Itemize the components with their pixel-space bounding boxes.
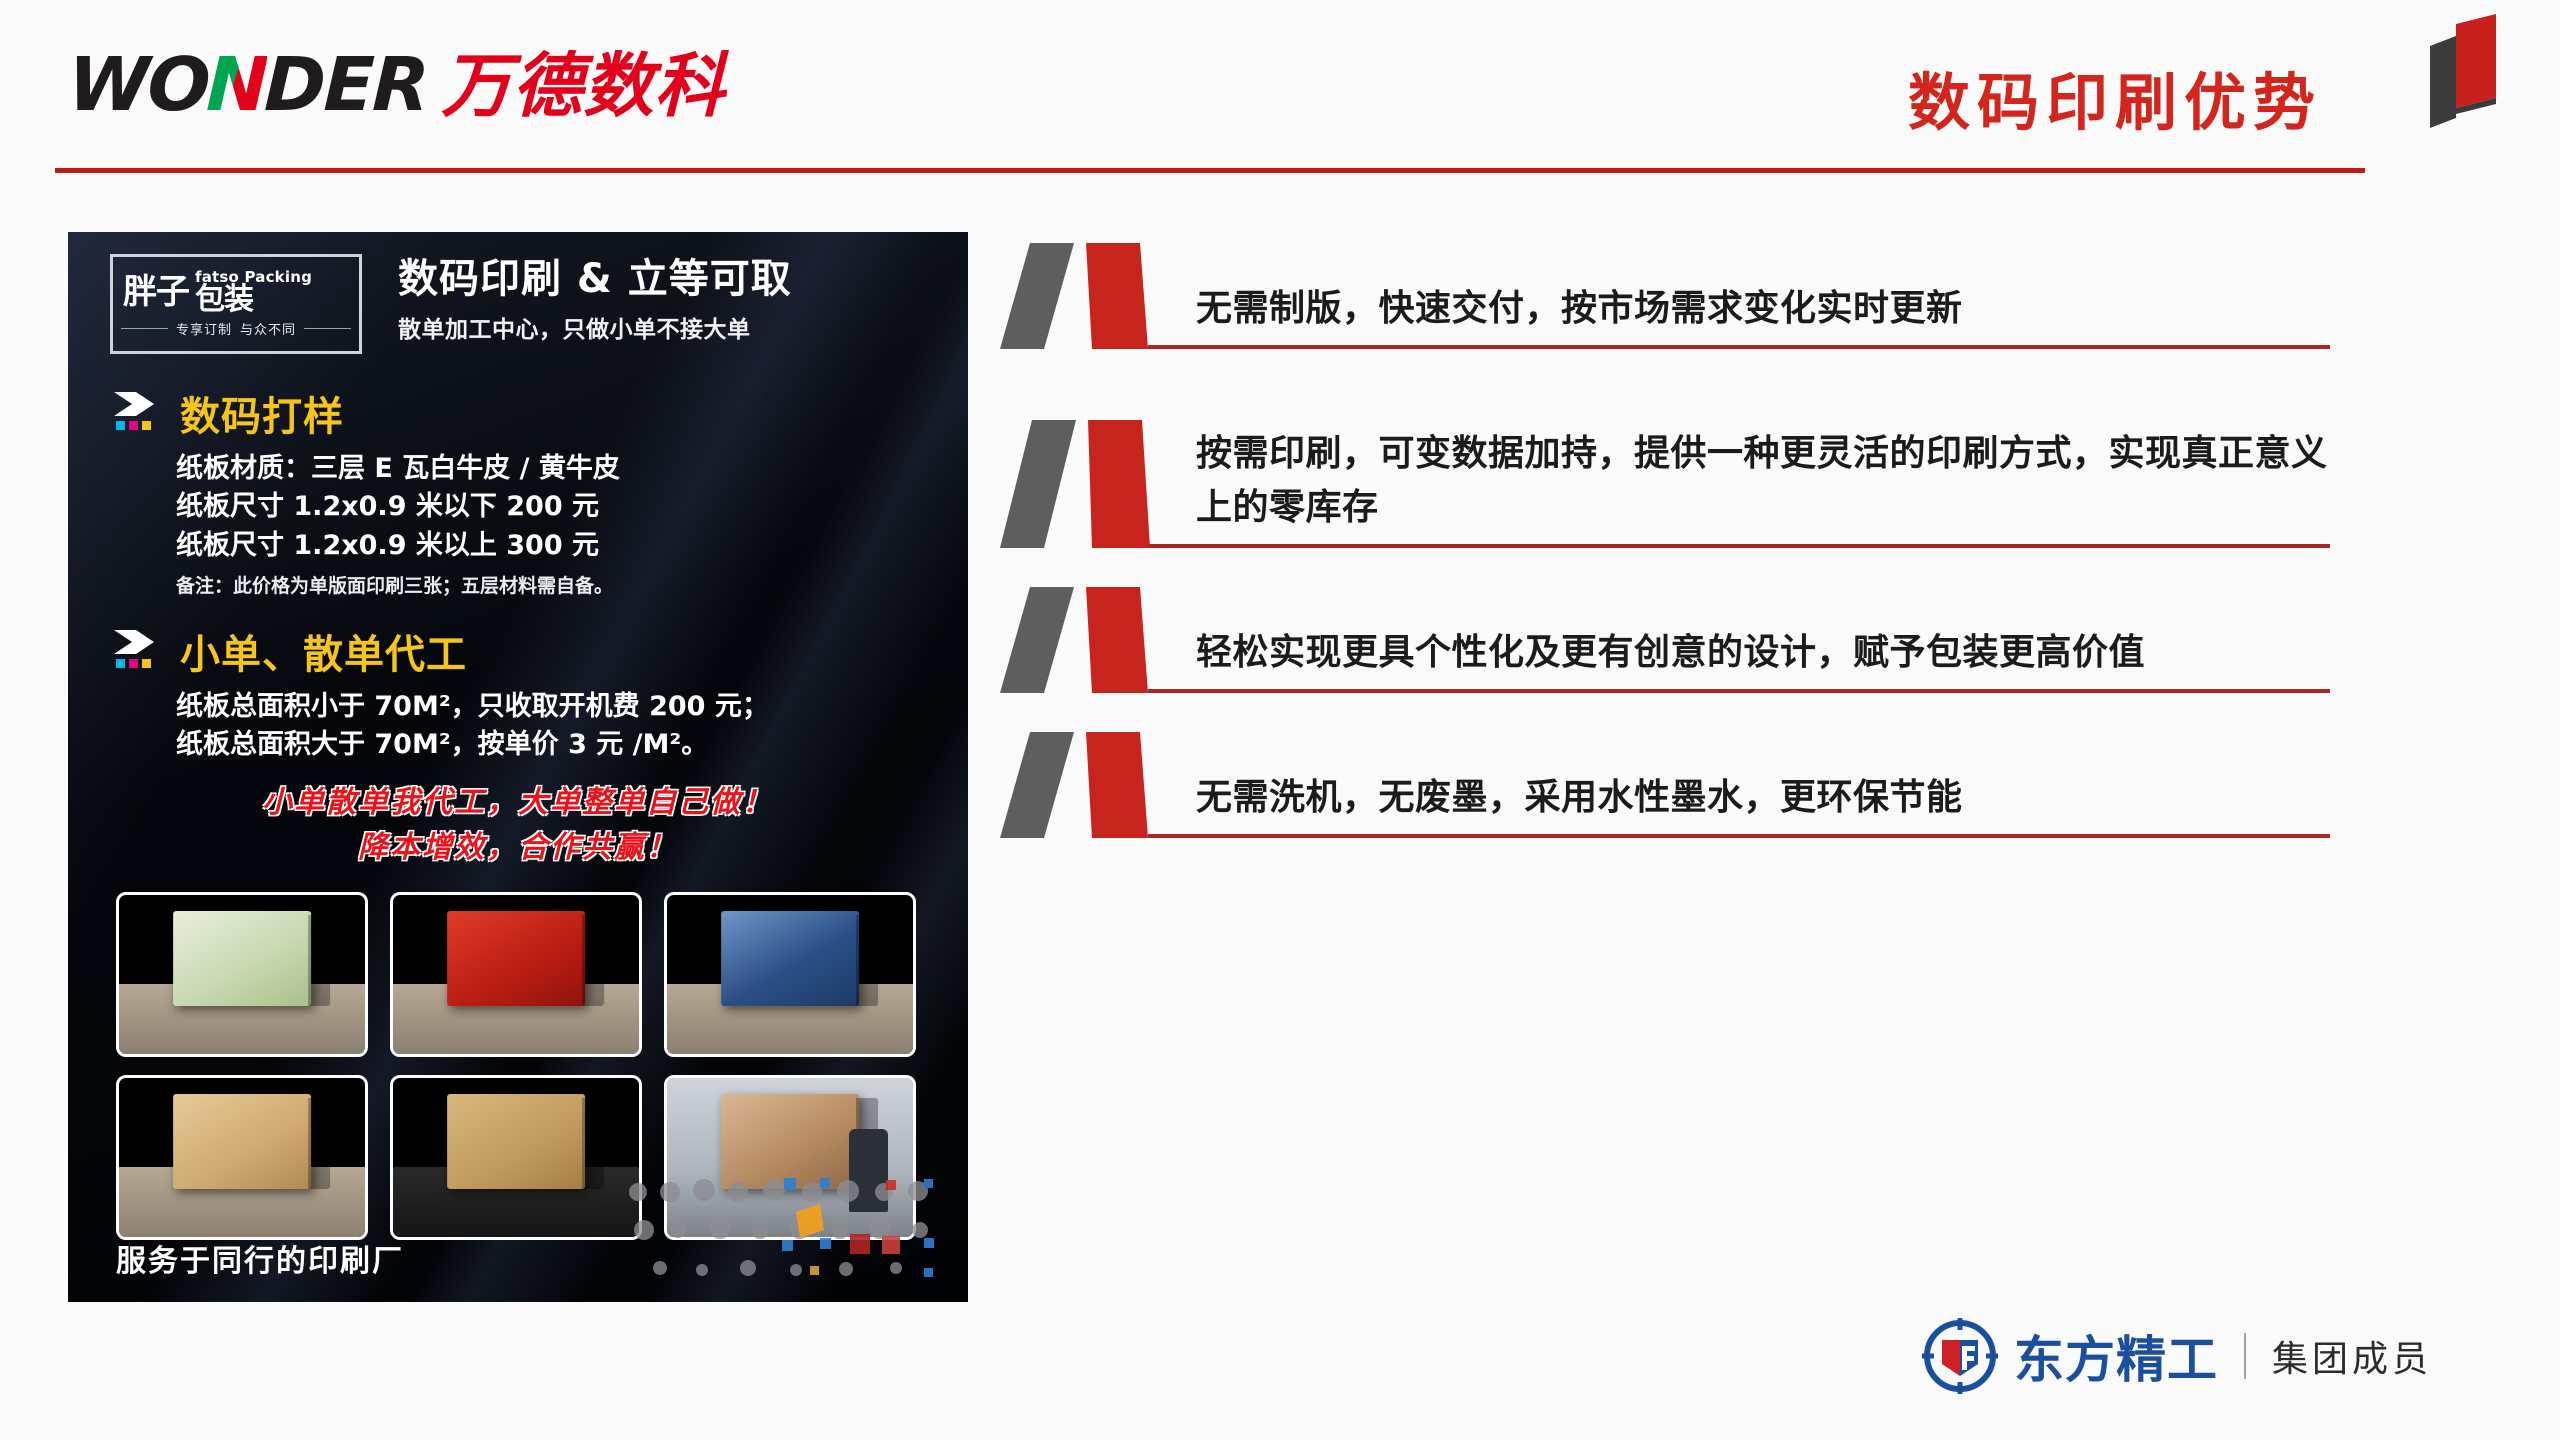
wonder-text-pre: WO	[67, 48, 210, 122]
dongfang-shield-icon	[1922, 1318, 1998, 1394]
wonder-letter-n: N	[205, 48, 268, 122]
promo-poster-image: 胖子 fatso Packing 包装 专享订制 与众不同 数码印刷 & 立等可…	[68, 232, 968, 1302]
fatso-tagline-left: 专享订制	[176, 319, 232, 338]
fatso-logo-cn-left: 胖子	[123, 276, 189, 308]
fatso-tagline-right: 与众不同	[240, 319, 296, 338]
wonder-wordmark: WONDER	[67, 48, 429, 122]
double-slash-marker-icon	[1000, 587, 1172, 693]
product-photo-gold-classic-box	[390, 1075, 642, 1240]
product-photo-red-meat-gift-box	[390, 892, 642, 1057]
advantage-text: 按需印刷，可变数据加持，提供一种更灵活的印刷方式，实现真正意义上的零库存	[1196, 427, 2330, 536]
footer-member-label: 集团成员	[2272, 1330, 2432, 1382]
section-note: 备注：此价格为单版面印刷三张；五层材料需自备。	[176, 571, 930, 598]
slide-canvas: WONDER 万德数科 数码印刷优势 胖子 fatso Packing 包装 专…	[0, 0, 2560, 1440]
poster-section-digital-proofing: 数码打样 纸板材质：三层 E 瓦白牛皮 / 黄牛皮 纸板尺寸 1.2x0.9 米…	[110, 384, 930, 598]
section-line: 纸板总面积小于 70M²，只收取开机费 200 元；	[176, 688, 930, 726]
advantage-text: 轻松实现更具个性化及更有创意的设计，赋予包装更高价值	[1196, 626, 2330, 681]
halftone-dot-pattern-icon	[624, 1174, 954, 1294]
footer-branding: 东方精工 集团成员	[1922, 1318, 2432, 1394]
double-slash-marker-icon	[1000, 420, 1172, 548]
product-photo-kraft-paper-box	[116, 1075, 368, 1240]
advantage-underline	[1148, 689, 2330, 693]
poster-footer-text: 服务于同行的印刷厂	[116, 1236, 404, 1280]
fatso-packing-logo: 胖子 fatso Packing 包装 专享订制 与众不同	[110, 254, 362, 354]
advantage-item[interactable]: 轻松实现更具个性化及更有创意的设计，赋予包装更高价值	[1000, 626, 2330, 693]
header-divider	[55, 168, 2365, 173]
advantage-item[interactable]: 无需制版，快速交付，按市场需求变化实时更新	[1000, 282, 2330, 349]
advantage-text: 无需洗机，无废墨，采用水性墨水，更环保节能	[1196, 771, 2330, 826]
product-photo-blue-beef-carton	[664, 892, 916, 1057]
fatso-logo-cn-right: 包装	[195, 285, 312, 315]
section-line: 纸板总面积大于 70M²，按单价 3 元 /M²。	[176, 726, 930, 764]
advantage-item[interactable]: 按需印刷，可变数据加持，提供一种更灵活的印刷方式，实现真正意义上的零库存	[1000, 427, 2330, 548]
advantage-underline	[1148, 834, 2330, 838]
double-slash-marker-icon	[1000, 243, 1172, 349]
advantage-underline	[1148, 345, 2330, 349]
slogan-line-2: 降本增效，合作共赢！	[68, 825, 968, 870]
section-line: 纸板材质：三层 E 瓦白牛皮 / 黄牛皮	[176, 450, 930, 488]
advantage-text: 无需制版，快速交付，按市场需求变化实时更新	[1196, 282, 2330, 337]
double-slash-marker-icon	[1000, 732, 1172, 838]
chevron-arrow-icon	[110, 390, 166, 436]
poster-headline: 数码印刷 & 立等可取	[398, 256, 938, 302]
fatso-tag-rule-left	[121, 328, 168, 329]
dongfang-company-name: 东方精工	[2014, 1320, 2218, 1392]
wonder-brand-logo: WONDER 万德数科	[68, 48, 725, 130]
section-title: 数码打样	[180, 384, 344, 442]
poster-headline-block: 数码印刷 & 立等可取 散单加工中心，只做小单不接大单	[398, 256, 938, 344]
advantage-item[interactable]: 无需洗机，无废墨，采用水性墨水，更环保节能	[1000, 771, 2330, 838]
chevron-arrow-icon	[110, 628, 166, 674]
slogan-line-1: 小单散单我代工，大单整单自己做！	[68, 780, 968, 825]
product-photo-honey-gift-box	[116, 892, 368, 1057]
poster-section-small-order-oem: 小单、散单代工 纸板总面积小于 70M²，只收取开机费 200 元； 纸板总面积…	[110, 622, 930, 765]
fatso-tag-rule-right	[304, 328, 351, 329]
folded-book-icon	[2410, 8, 2502, 136]
dongfang-logo: 东方精工	[1922, 1318, 2218, 1394]
section-line: 纸板尺寸 1.2x0.9 米以下 200 元	[176, 488, 930, 526]
page-title: 数码印刷优势	[1908, 52, 2322, 142]
section-line: 纸板尺寸 1.2x0.9 米以上 300 元	[176, 527, 930, 565]
footer-divider	[2244, 1333, 2246, 1379]
advantage-underline	[1148, 544, 2330, 548]
poster-slogan: 小单散单我代工，大单整单自己做！ 降本增效，合作共赢！	[68, 780, 968, 870]
advantages-list: 无需制版，快速交付，按市场需求变化实时更新 按需印刷，可变数据加持，提供一种更灵…	[1000, 282, 2330, 838]
wonder-text-post: DER	[263, 48, 429, 122]
section-title: 小单、散单代工	[180, 622, 467, 680]
wonder-chinese-name: 万德数科	[441, 51, 725, 121]
poster-subheadline: 散单加工中心，只做小单不接大单	[398, 310, 938, 344]
